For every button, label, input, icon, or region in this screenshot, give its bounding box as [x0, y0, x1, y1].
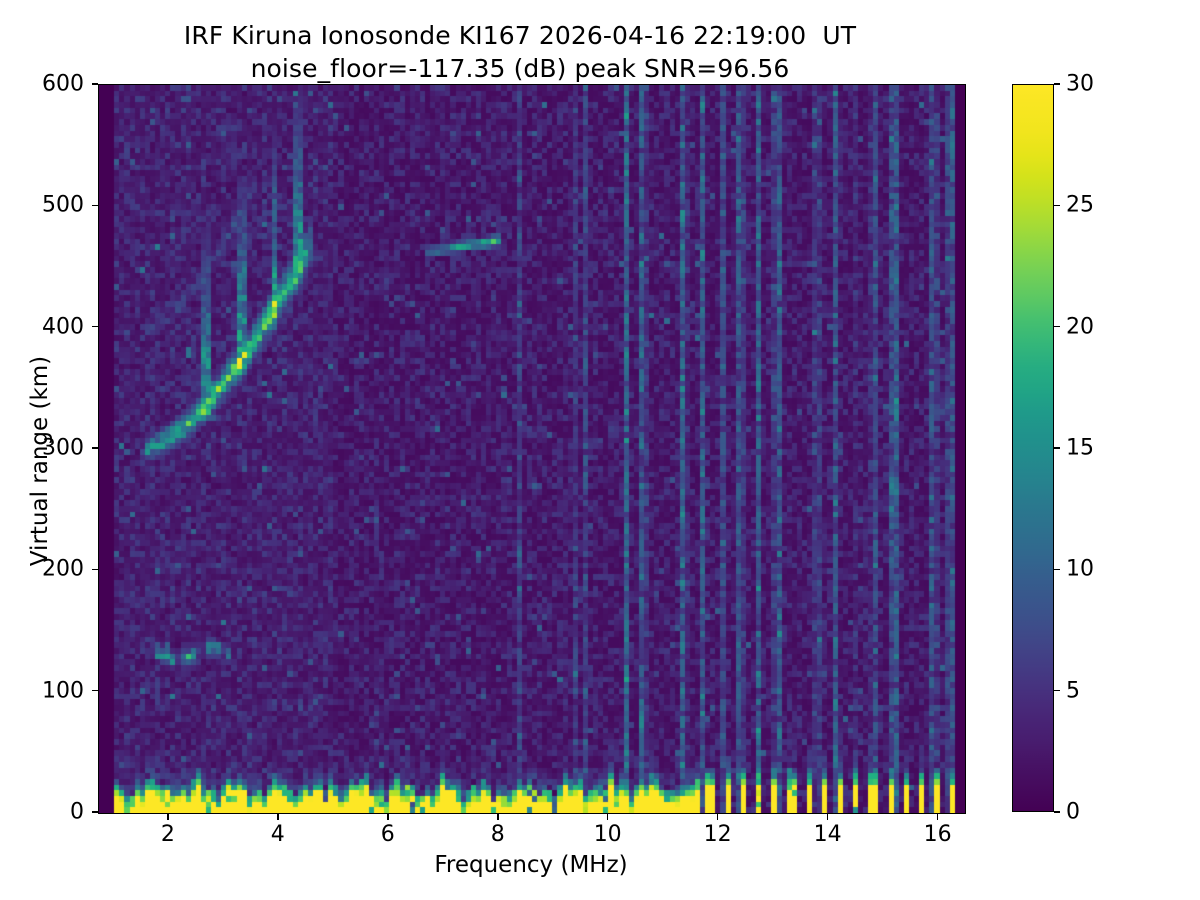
x-tick-mark	[277, 814, 279, 820]
colorbar: 051015202530	[1012, 84, 1054, 812]
y-tick-mark	[92, 205, 98, 207]
y-axis-label: Virtual range (km)	[27, 261, 53, 661]
colorbar-tick-label: 30	[1066, 72, 1094, 97]
x-tick-label: 6	[358, 822, 418, 847]
colorbar-tick-mark	[1054, 205, 1060, 206]
y-tick-mark	[92, 326, 98, 328]
y-tick-mark	[92, 690, 98, 692]
colorbar-tick-label: 15	[1066, 436, 1094, 461]
y-tick-mark	[92, 811, 98, 813]
x-tick-label: 14	[798, 822, 858, 847]
colorbar-tick-mark	[1054, 83, 1060, 84]
colorbar-tick-mark	[1054, 569, 1060, 570]
x-tick-label: 2	[138, 822, 198, 847]
x-tick-mark	[607, 814, 609, 820]
x-tick-mark	[827, 814, 829, 820]
y-tick-label: 100	[4, 678, 84, 703]
y-tick-mark	[92, 569, 98, 571]
figure-canvas: IRF Kiruna Ionosonde KI167 2026-04-16 22…	[0, 0, 1200, 900]
y-tick-label: 600	[4, 72, 84, 97]
y-tick-mark	[92, 447, 98, 449]
colorbar-tick-label: 10	[1066, 557, 1094, 582]
y-tick-label: 500	[4, 193, 84, 218]
x-tick-mark	[717, 814, 719, 820]
title-line-2: noise_floor=-117.35 (dB) peak SNR=96.56	[0, 53, 1040, 86]
title-line-1: IRF Kiruna Ionosonde KI167 2026-04-16 22…	[0, 20, 1040, 53]
colorbar-tick-label: 20	[1066, 314, 1094, 339]
y-tick-label: 0	[4, 800, 84, 825]
x-axis-label: Frequency (MHz)	[98, 852, 964, 878]
ionogram-axes	[98, 84, 966, 814]
x-tick-label: 4	[248, 822, 308, 847]
colorbar-tick-mark	[1054, 447, 1060, 448]
x-tick-mark	[497, 814, 499, 820]
x-tick-label: 16	[908, 822, 968, 847]
colorbar-tick-label: 25	[1066, 193, 1094, 218]
colorbar-tick-mark	[1054, 690, 1060, 691]
x-tick-label: 12	[688, 822, 748, 847]
colorbar-tick-label: 0	[1066, 800, 1080, 825]
x-tick-mark	[387, 814, 389, 820]
x-tick-mark	[937, 814, 939, 820]
x-tick-label: 10	[578, 822, 638, 847]
plot-title: IRF Kiruna Ionosonde KI167 2026-04-16 22…	[0, 20, 1040, 85]
colorbar-tick-mark	[1054, 811, 1060, 812]
colorbar-tick-mark	[1054, 326, 1060, 327]
ionogram-heatmap	[99, 85, 965, 813]
x-tick-label: 8	[468, 822, 528, 847]
x-tick-mark	[167, 814, 169, 820]
colorbar-gradient	[1012, 84, 1054, 812]
y-tick-mark	[92, 83, 98, 85]
colorbar-tick-label: 5	[1066, 678, 1080, 703]
